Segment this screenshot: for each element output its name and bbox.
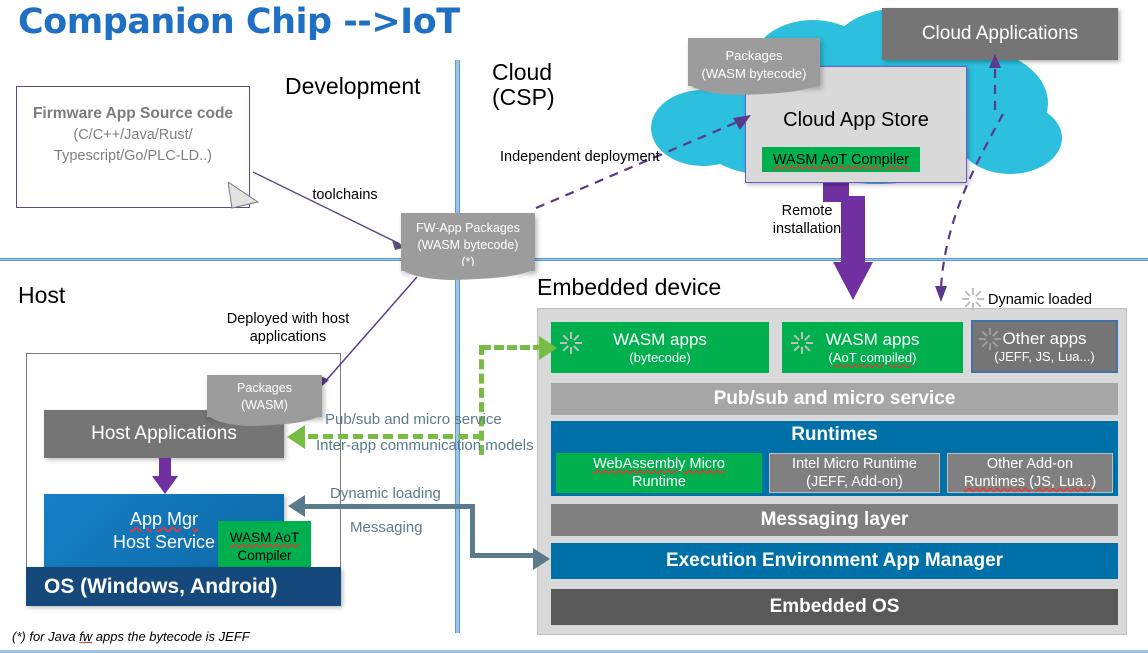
host-applications-label: Host Applications bbox=[91, 423, 237, 445]
pubsub-middle-label: Pub/sub and micro service bbox=[325, 411, 540, 430]
firmware-source-line1: (C/C++/Java/Rust/ bbox=[17, 125, 249, 146]
firmware-source-title: Firmware App Source code bbox=[17, 103, 249, 125]
embedded-runtime-other-line2: Runtimes (JS, Lua..) bbox=[964, 473, 1096, 491]
firmware-source-line2: Typescript/Go/PLC-LD..) bbox=[17, 146, 249, 167]
cloud-packages-line1: Packages bbox=[688, 47, 820, 65]
host-packages-callout: Packages (WASM) bbox=[207, 375, 322, 417]
dynamic-loading-arrow-shaft bbox=[305, 504, 475, 509]
embedded-app-manager: Execution Environment App Manager bbox=[551, 543, 1118, 579]
embedded-app-other-spinner-icon bbox=[978, 328, 1000, 350]
host-aot-compiler-box: WASM AoT Compiler bbox=[218, 521, 311, 572]
toolchains-arrow-icon bbox=[250, 168, 415, 253]
host-app-mgr-line2: Host Service bbox=[113, 531, 215, 554]
independent-deployment-label: Independent deployment bbox=[500, 148, 690, 166]
footnote-underlined: fw bbox=[79, 629, 92, 644]
footnote-pre: (*) for Java bbox=[12, 629, 79, 644]
embedded-runtime-wamr-line1: WebAssembly Micro bbox=[593, 455, 725, 473]
section-heading-embedded: Embedded device bbox=[537, 275, 721, 300]
embedded-app-wasm-bytecode: WASM apps (bytecode) bbox=[551, 322, 769, 373]
messaging-arrowhead bbox=[533, 548, 550, 570]
embedded-runtime-other: Other Add-on Runtimes (JS, Lua..) bbox=[947, 453, 1113, 493]
messaging-label: Messaging bbox=[350, 519, 470, 538]
embedded-app-other-title: Other apps bbox=[1002, 329, 1086, 349]
diagram-canvas: Companion Chip -->IoT Development Cloud … bbox=[0, 0, 1148, 653]
firmware-source-box: Firmware App Source code (C/C++/Java/Rus… bbox=[16, 86, 250, 208]
interapp-green-dash-top bbox=[481, 345, 543, 350]
embedded-messaging-layer: Messaging layer bbox=[551, 504, 1118, 536]
embedded-pubsub-bar: Pub/sub and micro service bbox=[551, 383, 1118, 415]
page-title: Companion Chip -->IoT bbox=[18, 2, 460, 42]
host-packages-line1: Packages bbox=[207, 380, 322, 397]
cloud-to-device-dashed-arrow-icon bbox=[925, 110, 1015, 305]
interapp-green-arrowhead-left bbox=[287, 425, 305, 449]
embedded-runtime-intel-line1: Intel Micro Runtime bbox=[792, 455, 917, 473]
section-heading-host: Host bbox=[18, 283, 65, 308]
fwapp-packages-callout: FW-App Packages (WASM bytecode) (*) bbox=[401, 213, 535, 271]
cloud-packages-callout: Packages (WASM bytecode) bbox=[688, 38, 820, 86]
fwapp-callout-line1: FW-App Packages bbox=[401, 220, 535, 237]
section-heading-cloud: Cloud (CSP) bbox=[492, 60, 555, 110]
embedded-runtimes-block: Runtimes WebAssembly Micro Runtime Intel… bbox=[551, 421, 1118, 496]
host-os-box: OS (Windows, Android) bbox=[26, 567, 341, 606]
embedded-runtime-wamr-line2: Runtime bbox=[632, 473, 686, 491]
embedded-app-other-sub: (JEFF, JS, Lua...) bbox=[994, 349, 1094, 364]
embedded-app-manager-label: Execution Environment App Manager bbox=[666, 550, 1003, 572]
dynamic-loading-arrowhead bbox=[288, 495, 305, 517]
embedded-messaging-layer-label: Messaging layer bbox=[761, 509, 909, 531]
cloud-packages-line2: (WASM bytecode) bbox=[688, 65, 820, 83]
fwapp-callout-line3: (*) bbox=[401, 254, 535, 271]
footnote-post: apps the bytecode is JEFF bbox=[92, 629, 250, 644]
cloud-aot-compiler-label: WASM AoT Compiler bbox=[773, 152, 909, 168]
embedded-runtime-intel: Intel Micro Runtime (JEFF, Add-on) bbox=[769, 453, 940, 493]
host-aot-line1: WASM AoT bbox=[230, 529, 299, 547]
embedded-pubsub-label: Pub/sub and micro service bbox=[714, 388, 956, 410]
messaging-arrow-shaft bbox=[470, 553, 535, 558]
embedded-app-wasm-bytecode-sub: (bytecode) bbox=[629, 350, 690, 365]
dynamic-loading-label: Dynamic loading bbox=[330, 485, 470, 504]
dynamic-loaded-label: Dynamic loaded bbox=[988, 291, 1118, 309]
embedded-app-wasm-bytecode-spinner-icon bbox=[559, 332, 581, 354]
interapp-middle-label: Inter-app communication models bbox=[316, 437, 551, 456]
host-packages-line2: (WASM) bbox=[207, 397, 322, 414]
embedded-app-wasm-aot-sub: (AoT compiled) bbox=[829, 350, 917, 365]
embedded-runtime-wamr: WebAssembly Micro Runtime bbox=[556, 453, 762, 493]
appstore-to-cloudapps-arrow-icon bbox=[975, 52, 1015, 112]
host-os-label: OS (Windows, Android) bbox=[44, 575, 278, 599]
embedded-os: Embedded OS bbox=[551, 589, 1118, 625]
embedded-app-wasm-aot-spinner-icon bbox=[790, 332, 812, 354]
embedded-runtime-intel-line2: (JEFF, Add-on) bbox=[806, 473, 903, 491]
footnote: (*) for Java fw apps the bytecode is JEF… bbox=[12, 629, 250, 644]
embedded-app-wasm-bytecode-title: WASM apps bbox=[613, 330, 707, 350]
embedded-runtimes-title: Runtimes bbox=[551, 424, 1118, 446]
host-aot-line2: Compiler bbox=[237, 547, 291, 565]
deployed-with-host-arrow-icon bbox=[305, 272, 425, 397]
host-applications-down-arrow-icon bbox=[152, 458, 178, 494]
embedded-runtime-other-line1: Other Add-on bbox=[987, 455, 1073, 473]
toolchains-label: toolchains bbox=[300, 186, 390, 204]
fwapp-callout-line2: (WASM bytecode) bbox=[401, 237, 535, 254]
cloud-applications-label: Cloud Applications bbox=[922, 23, 1078, 45]
interapp-green-arrowhead-right bbox=[539, 336, 557, 360]
embedded-app-wasm-aot-title: WASM apps bbox=[826, 330, 920, 350]
remote-installation-label: Remote installation bbox=[757, 202, 857, 238]
embedded-os-label: Embedded OS bbox=[770, 596, 900, 618]
section-heading-development: Development bbox=[285, 74, 421, 99]
messaging-arrow-vertical bbox=[470, 504, 475, 558]
dynamic-loaded-spinner-icon bbox=[961, 288, 983, 310]
cloud-aot-compiler-box: WASM AoT Compiler bbox=[762, 147, 920, 172]
host-app-mgr-line1: App Mgr bbox=[130, 508, 198, 531]
